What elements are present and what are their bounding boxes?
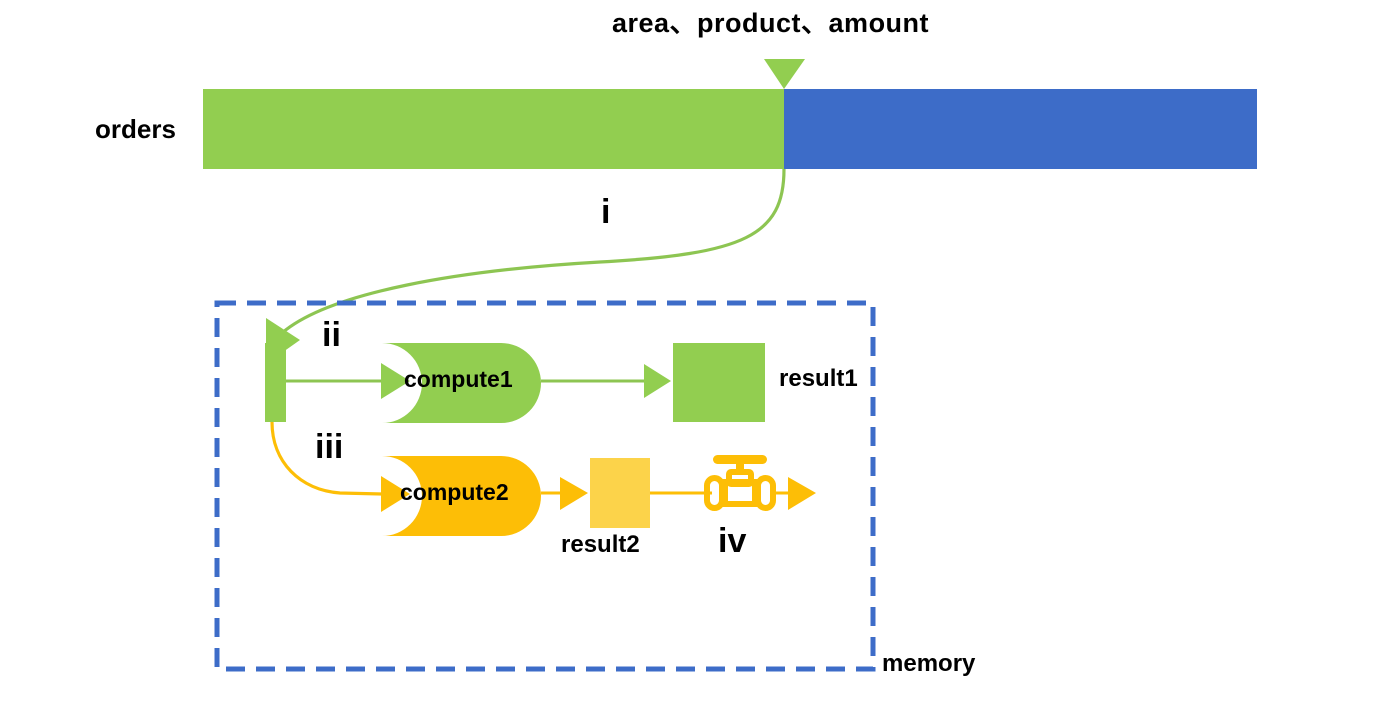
- input-buffer: [265, 343, 286, 422]
- connector-compute2-to-result2-arrowhead: [560, 477, 588, 510]
- compute1-label: compute1: [404, 368, 513, 391]
- step-label-ii: ii: [322, 318, 341, 352]
- connector-valve-outlet-arrowhead: [788, 477, 816, 510]
- step-label-iii: iii: [315, 430, 343, 464]
- orders-bar-blue-segment: [784, 89, 1257, 169]
- flow-curve-i: [282, 169, 784, 333]
- result1-label: result1: [779, 367, 858, 391]
- memory-label: memory: [882, 652, 975, 676]
- down-triangle-icon: [764, 59, 805, 89]
- result2-box: [590, 458, 650, 528]
- page-title: area、product、amount: [612, 10, 929, 37]
- gate-valve-icon: [707, 455, 773, 508]
- diagram-graphics: [0, 0, 1378, 710]
- orders-bar-green-segment: [203, 89, 784, 169]
- result1-box: [673, 343, 765, 422]
- connector-compute1-to-result1-arrowhead: [644, 364, 671, 398]
- compute2-label: compute2: [400, 481, 509, 504]
- result2-label: result2: [561, 533, 640, 557]
- step-label-i: i: [601, 195, 610, 229]
- diagram-canvas: area、product、amount orders i ii iii iv c…: [0, 0, 1378, 710]
- orders-bar-label: orders: [95, 116, 176, 142]
- step-label-iv: iv: [718, 524, 746, 558]
